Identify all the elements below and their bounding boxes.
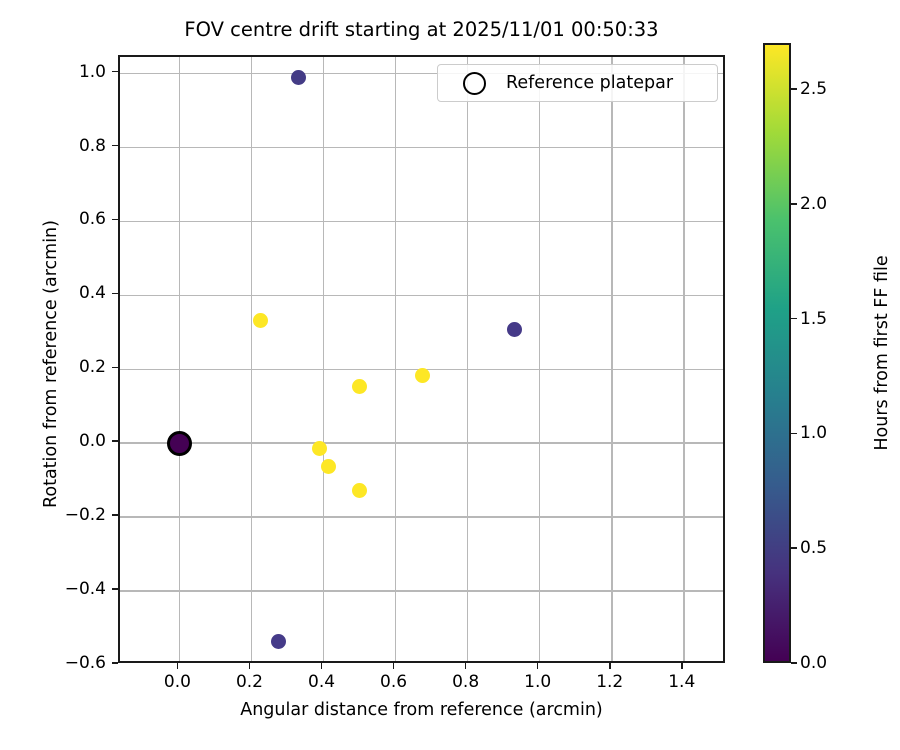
data-point-marker bbox=[321, 459, 336, 474]
colorbar-tick-mark bbox=[791, 88, 797, 90]
y-tick-mark bbox=[112, 440, 118, 442]
x-tick-label: 1.2 bbox=[575, 672, 645, 692]
x-tick-mark bbox=[537, 663, 539, 669]
y-tick-mark bbox=[112, 514, 118, 516]
x-tick-label: 0.0 bbox=[142, 672, 212, 692]
data-point-marker bbox=[253, 313, 268, 328]
x-tick-mark bbox=[681, 663, 683, 669]
colorbar-tick-label: 1.0 bbox=[800, 423, 827, 443]
colorbar-tick-mark bbox=[791, 662, 797, 664]
x-tick-mark bbox=[321, 663, 323, 669]
x-tick-label: 1.4 bbox=[647, 672, 717, 692]
y-tick-mark bbox=[112, 367, 118, 369]
y-tick-mark bbox=[112, 71, 118, 73]
data-point-marker bbox=[352, 379, 367, 394]
data-point-marker bbox=[352, 483, 367, 498]
legend-entry-label: Reference platepar bbox=[506, 72, 673, 95]
y-tick-mark bbox=[112, 662, 118, 664]
colorbar-tick-mark bbox=[791, 318, 797, 320]
y-tick-mark bbox=[112, 293, 118, 295]
colorbar-gradient bbox=[765, 45, 789, 661]
legend-box[interactable]: Reference platepar bbox=[437, 64, 718, 102]
data-point-marker bbox=[507, 322, 522, 337]
x-tick-mark bbox=[249, 663, 251, 669]
colorbar-tick-label: 2.0 bbox=[800, 194, 827, 214]
gridline-horizontal bbox=[120, 442, 723, 444]
colorbar-tick-mark bbox=[791, 433, 797, 435]
x-tick-label: 0.4 bbox=[287, 672, 357, 692]
colorbar-tick-label: 2.5 bbox=[800, 79, 827, 99]
x-tick-mark bbox=[393, 663, 395, 669]
gridline-horizontal bbox=[120, 516, 723, 518]
y-tick-mark bbox=[112, 145, 118, 147]
colorbar bbox=[763, 43, 791, 663]
gridline-horizontal bbox=[120, 590, 723, 592]
x-tick-label: 0.6 bbox=[359, 672, 429, 692]
legend-marker-open-circle-icon bbox=[463, 72, 486, 95]
colorbar-tick-mark bbox=[791, 547, 797, 549]
colorbar-label: Hours from first FF file bbox=[872, 43, 892, 663]
y-tick-mark bbox=[112, 588, 118, 590]
reference-platepar-marker bbox=[167, 431, 192, 456]
colorbar-tick-label: 1.5 bbox=[800, 309, 827, 329]
y-tick-mark bbox=[112, 219, 118, 221]
x-axis-label: Angular distance from reference (arcmin) bbox=[118, 700, 725, 720]
x-tick-label: 0.2 bbox=[214, 672, 284, 692]
x-tick-label: 1.0 bbox=[503, 672, 573, 692]
gridline-horizontal bbox=[120, 147, 723, 149]
x-tick-label: 0.8 bbox=[431, 672, 501, 692]
x-tick-mark bbox=[609, 663, 611, 669]
colorbar-tick-label: 0.0 bbox=[800, 653, 827, 673]
colorbar-tick-mark bbox=[791, 203, 797, 205]
chart-title: FOV centre drift starting at 2025/11/01 … bbox=[118, 18, 725, 42]
plot-area[interactable] bbox=[118, 55, 725, 663]
figure-canvas: FOV centre drift starting at 2025/11/01 … bbox=[0, 0, 900, 750]
y-axis-label: Rotation from reference (arcmin) bbox=[41, 60, 61, 668]
x-tick-mark bbox=[177, 663, 179, 669]
data-point-marker bbox=[312, 441, 327, 456]
data-point-marker bbox=[415, 368, 430, 383]
data-point-marker bbox=[291, 70, 306, 85]
colorbar-tick-label: 0.5 bbox=[800, 538, 827, 558]
data-point-marker bbox=[271, 634, 286, 649]
gridline-horizontal bbox=[120, 295, 723, 297]
gridline-horizontal bbox=[120, 221, 723, 223]
x-tick-mark bbox=[465, 663, 467, 669]
